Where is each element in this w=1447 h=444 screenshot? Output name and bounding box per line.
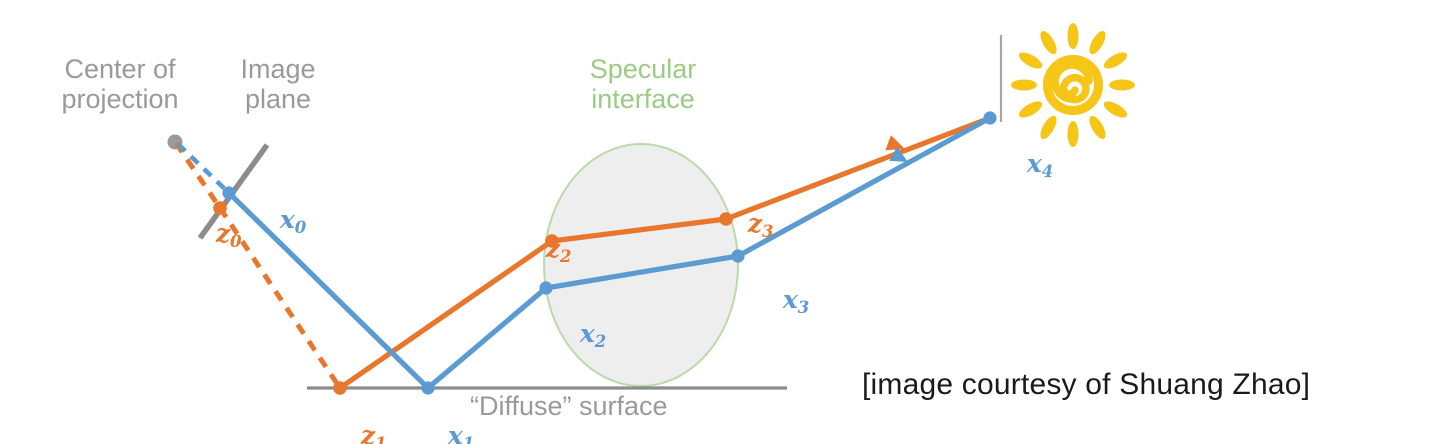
vertex-label-z3-sub: 3	[762, 222, 773, 241]
vertex-label-x2-sub: 2	[595, 332, 606, 351]
vertex-label-x3: x3	[748, 258, 809, 345]
vertex-label-x3-sub: 3	[798, 298, 809, 317]
vertex-dot-z1	[333, 381, 347, 395]
vertex-label-x0-sub: 0	[295, 218, 306, 237]
vertex-label-x1-base: x	[448, 421, 463, 444]
annotation-specular-interface: Specular interface	[553, 54, 733, 114]
vertex-label-x4: x4	[992, 122, 1053, 209]
vertex-label-z0: z0	[181, 192, 242, 279]
vertex-label-z2: z2	[511, 207, 572, 294]
annotation-center-of-projection: Center of projection	[35, 54, 205, 114]
vertex-label-x4-base: x	[1027, 149, 1042, 178]
vertex-label-z1: z1	[326, 394, 387, 444]
vertex-label-x1: x1	[413, 394, 474, 444]
vertex-label-z3: z3	[713, 182, 774, 269]
vertex-label-x0: x0	[245, 178, 306, 265]
vertex-label-z1-base: z	[361, 421, 375, 444]
vertex-label-x2-base: x	[580, 319, 595, 348]
annotation-diffuse-surface: “Diffuse” surface	[470, 391, 700, 421]
vertex-label-x2: x2	[545, 292, 606, 379]
annotation-image-plane: Image plane	[218, 54, 338, 114]
vertex-label-x3-base: x	[783, 285, 798, 314]
vertex-label-x4-sub: 4	[1042, 162, 1053, 181]
vertex-label-z2-sub: 2	[560, 247, 571, 266]
vertex-label-z2-base: z	[546, 234, 560, 263]
vertex-dot-x1	[421, 381, 434, 394]
vertex-label-z1-sub: 1	[375, 434, 386, 444]
vertex-label-z0-base: z	[216, 219, 230, 248]
vertex-label-x0-base: x	[280, 205, 295, 234]
image-credit: [image courtesy of Shuang Zhao]	[862, 368, 1310, 402]
vertex-label-z0-sub: 0	[230, 232, 241, 251]
vertex-label-x1-sub: 1	[463, 434, 474, 444]
vertex-label-z3-base: z	[748, 209, 762, 238]
diagram-canvas: Center of projection Image plane Specula…	[0, 0, 1447, 444]
